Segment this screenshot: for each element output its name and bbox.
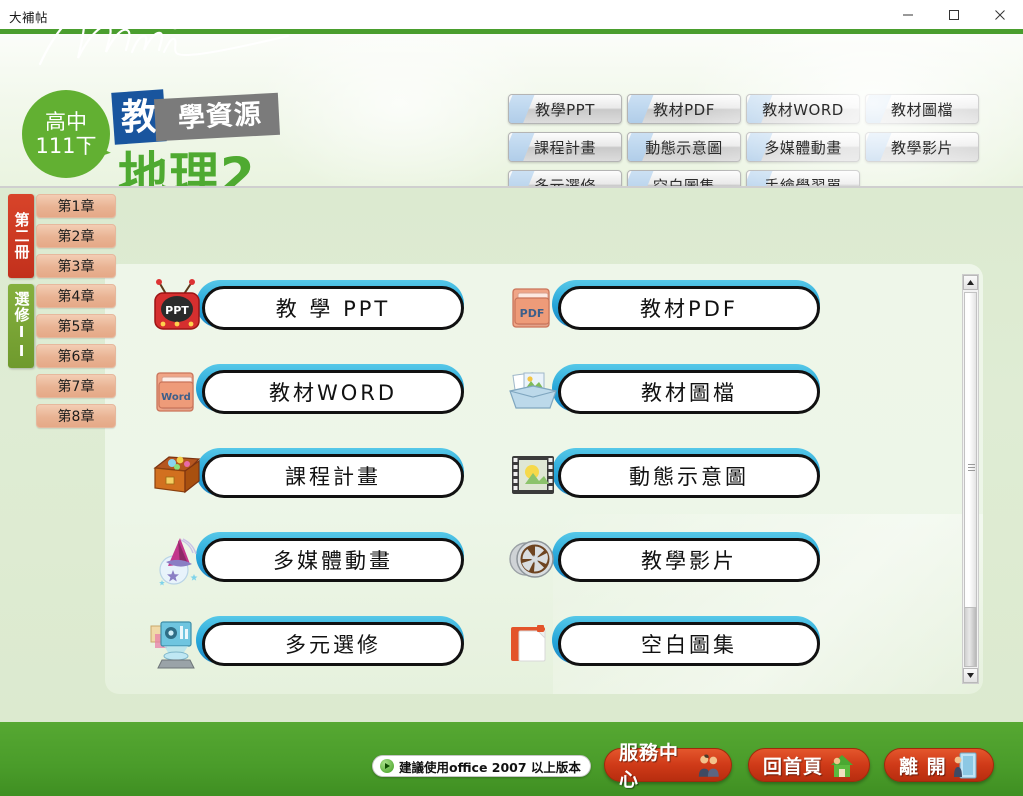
close-icon[interactable] <box>977 0 1023 29</box>
minimize-icon[interactable] <box>885 0 931 29</box>
film-strip-icon <box>502 444 564 506</box>
page-title: 地理2 <box>118 150 256 186</box>
resource-label-wrap: 教學影片 <box>558 538 820 582</box>
sidebar-item-chapter-2[interactable]: 第2章 <box>36 224 116 248</box>
top-nav-label: 教學影片 <box>891 137 953 158</box>
svg-text:PPT: PPT <box>165 304 189 317</box>
film-reel-icon <box>502 528 564 590</box>
top-nav-multimedia[interactable]: 多媒體動畫 <box>746 132 860 162</box>
sidebar-volume-tab-elective[interactable]: 選修II <box>8 284 34 368</box>
sidebar-volume-tab-2[interactable]: 第二冊 <box>8 194 34 278</box>
sidebar-volume-label: 選修II <box>13 291 30 361</box>
office-note-text: 建議使用office 2007 以上版本 <box>399 757 581 776</box>
button-slash-icon <box>627 94 655 124</box>
content-area: 第二冊 選修II 第1章 第2章 第3章 第4章 第5章 第6章 第7章 第8章 <box>0 186 1023 722</box>
top-nav-label: 動態示意圖 <box>645 137 723 158</box>
resource-label-wrap: 動態示意圖 <box>558 454 820 498</box>
resource-button-animated-diagram[interactable]: 動態示意圖 <box>496 442 826 510</box>
sidebar-item-chapter-6[interactable]: 第6章 <box>36 344 116 368</box>
resource-label: 教 學 PPT <box>276 293 391 323</box>
scroll-down-icon[interactable] <box>963 668 978 683</box>
button-slash-icon <box>865 94 893 124</box>
home-label: 回首頁 <box>763 752 823 779</box>
resource-label: 課程計畫 <box>285 461 381 491</box>
office-version-note: 建議使用office 2007 以上版本 <box>372 755 591 777</box>
service-center-label: 服務中心 <box>619 738 691 792</box>
top-nav-ppt[interactable]: 教學PPT <box>508 94 622 124</box>
resource-label: 動態示意圖 <box>629 461 749 491</box>
teaching-mark-text: 學資源 <box>160 97 280 139</box>
sidebar-volume-label: 第二冊 <box>13 212 30 260</box>
resource-label-wrap: 教材PDF <box>558 286 820 330</box>
resource-label-wrap: 多元選修 <box>202 622 464 666</box>
resource-label-wrap: 課程計畫 <box>202 454 464 498</box>
scrollbar-track-lower[interactable] <box>964 607 977 667</box>
scrollbar-thumb[interactable] <box>964 292 977 644</box>
sidebar-item-chapter-1[interactable]: 第1章 <box>36 194 116 218</box>
svg-text:PDF: PDF <box>520 307 545 320</box>
scrollbar-grip-icon <box>968 464 975 472</box>
resource-button-electives[interactable]: 多元選修 <box>140 610 470 678</box>
resource-label-wrap: 教材WORD <box>202 370 464 414</box>
resource-label: 教材PDF <box>640 293 738 323</box>
service-people-icon <box>697 751 721 779</box>
button-slash-icon <box>627 170 655 186</box>
home-button[interactable]: 回首頁 <box>748 748 870 782</box>
resource-label: 教材WORD <box>269 377 397 407</box>
resource-label: 教材圖檔 <box>641 377 737 407</box>
resource-label: 多元選修 <box>285 629 381 659</box>
sidebar-item-chapter-5[interactable]: 第5章 <box>36 314 116 338</box>
magic-hat-icon <box>146 528 208 590</box>
button-slash-icon <box>865 132 893 162</box>
top-nav-label: 課程計畫 <box>534 137 596 158</box>
button-slash-icon <box>508 94 536 124</box>
sidebar-item-chapter-7[interactable]: 第7章 <box>36 374 116 398</box>
top-nav-video[interactable]: 教學影片 <box>865 132 979 162</box>
resource-button-material-word[interactable]: 教材WORD Word <box>140 358 470 426</box>
window-controls <box>885 0 1023 29</box>
top-nav-label: 空白圖集 <box>653 175 715 187</box>
word-folder-icon: Word <box>146 360 208 422</box>
resource-label-wrap: 教材圖檔 <box>558 370 820 414</box>
resource-button-material-pdf[interactable]: 教材PDF PDF <box>496 274 826 342</box>
top-nav-images[interactable]: 教材圖檔 <box>865 94 979 124</box>
content-divider <box>0 186 1023 188</box>
resource-label: 教學影片 <box>641 545 737 575</box>
button-slash-icon <box>508 170 536 186</box>
top-nav-label: 多元選修 <box>534 175 596 187</box>
top-nav-label: 教學PPT <box>535 99 595 120</box>
service-center-button[interactable]: 服務中心 <box>604 748 732 782</box>
pdf-folder-icon: PDF <box>502 276 564 338</box>
ppt-tv-icon: PPT <box>146 276 208 338</box>
top-nav-label: 多媒體動畫 <box>764 137 842 158</box>
resource-button-teaching-ppt[interactable]: 教 學 PPT PPT <box>140 274 470 342</box>
teaching-mark-char: 教 <box>121 99 157 135</box>
top-nav-grid: 教學PPT 教材PDF 教材WORD 教材圖檔 課程計畫 動態示意圖 多媒體動畫… <box>508 94 998 186</box>
top-nav-animation-diagram[interactable]: 動態示意圖 <box>627 132 741 162</box>
sidebar-item-chapter-3[interactable]: 第3章 <box>36 254 116 278</box>
top-nav-label: 教材PDF <box>653 99 715 120</box>
grade-badge-line1: 高中 <box>45 110 87 134</box>
top-nav-label: 手繪學習單 <box>764 175 842 187</box>
grade-badge: 高中 111下 <box>22 90 110 178</box>
button-slash-icon <box>508 132 536 162</box>
top-nav-label: 教材WORD <box>762 99 844 120</box>
resource-button-teaching-video[interactable]: 教學影片 <box>496 526 826 594</box>
resource-label-wrap: 空白圖集 <box>558 622 820 666</box>
sidebar-item-chapter-4[interactable]: 第4章 <box>36 284 116 308</box>
home-icon <box>829 751 855 779</box>
resource-label: 空白圖集 <box>641 629 737 659</box>
resource-label-wrap: 多媒體動畫 <box>202 538 464 582</box>
blank-clipboard-icon <box>502 612 564 674</box>
exit-button[interactable]: 離 開 <box>884 748 994 782</box>
resource-button-blank-atlas[interactable]: 空白圖集 <box>496 610 826 678</box>
projector-icon <box>146 612 208 674</box>
svg-text:Word: Word <box>161 392 191 403</box>
resource-label-wrap: 教 學 PPT <box>202 286 464 330</box>
top-nav-syllabus[interactable]: 課程計畫 <box>508 132 622 162</box>
treasure-chest-icon <box>146 444 208 506</box>
top-nav-blank-atlas[interactable]: 空白圖集 <box>627 170 741 186</box>
resource-button-grid: 教 學 PPT PPT 教材PDF <box>140 274 860 678</box>
exit-label: 離 開 <box>899 752 947 779</box>
top-nav-pdf[interactable]: 教材PDF <box>627 94 741 124</box>
sidebar-item-chapter-8[interactable]: 第8章 <box>36 404 116 428</box>
top-nav-label: 教材圖檔 <box>891 99 953 120</box>
top-nav-word[interactable]: 教材WORD <box>746 94 860 124</box>
image-box-icon <box>502 360 564 422</box>
scroll-up-icon[interactable] <box>963 275 978 290</box>
play-circle-icon <box>380 759 394 773</box>
resource-button-material-images[interactable]: 教材圖檔 <box>496 358 826 426</box>
resource-button-multimedia-animation[interactable]: 多媒體動畫 <box>140 526 470 594</box>
content-scrollbar[interactable] <box>962 274 979 684</box>
top-nav-worksheet[interactable]: 手繪學習單 <box>746 170 860 186</box>
top-nav-electives[interactable]: 多元選修 <box>508 170 622 186</box>
brand-logo <box>28 6 318 68</box>
application-window: 大補帖 高中 111下 教 學資源 地理2 教學PPT <box>0 0 1023 796</box>
resource-label: 多媒體動畫 <box>273 545 393 575</box>
chapter-list: 第1章 第2章 第3章 第4章 第5章 第6章 第7章 第8章 <box>36 194 118 434</box>
resource-button-course-plan[interactable]: 課程計畫 <box>140 442 470 510</box>
exit-door-icon <box>953 751 979 779</box>
maximize-icon[interactable] <box>931 0 977 29</box>
